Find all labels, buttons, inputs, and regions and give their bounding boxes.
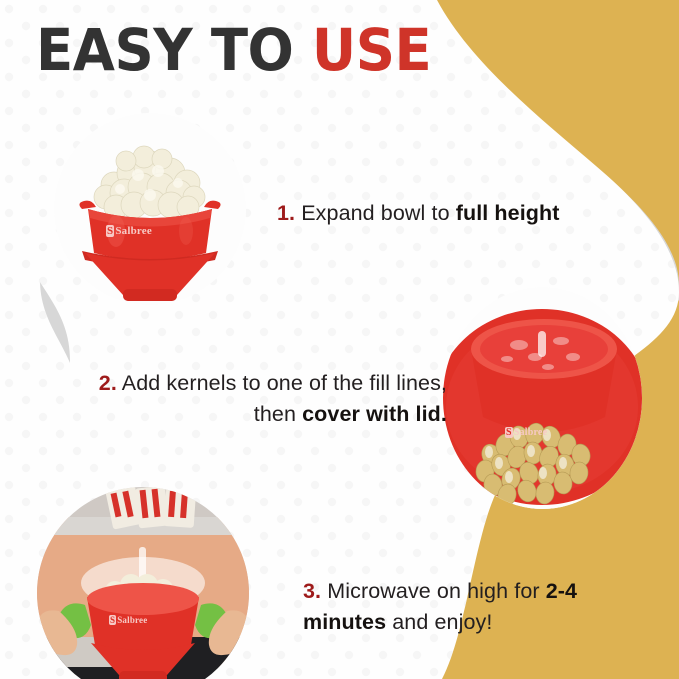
page-title: EASY TO USE [36,21,431,79]
brand-label: SSalbree [505,427,547,438]
step-1-body: Expand bowl to [301,201,456,225]
photo-kernels-and-lid: SSalbree [443,287,642,509]
kernels-and-lid-illustration [443,287,642,509]
brand-name: Salbree [117,615,147,625]
brand-mark-icon: S [106,225,114,237]
microwave-hands-illustration [37,487,249,679]
brand-mark-icon: S [109,615,116,625]
step-2-text: 2. Add kernels to one of the fill lines,… [55,368,447,429]
title-primary: EASY TO [36,16,293,84]
photo-expanded-bowl: SSalbree [54,113,246,305]
step-3-text: 3. Microwave on high for 2-4 minutes and… [303,576,663,637]
step-3-tail: and enjoy! [386,610,492,634]
brand-mark-icon: S [505,427,513,438]
brand-label: SSalbree [109,615,147,625]
step-1-number: 1. [277,201,295,225]
step-1-emphasis: full height [456,201,560,225]
title-accent: USE [312,16,431,84]
brand-name: Salbree [514,427,547,438]
step-1-text: 1. Expand bowl to full height [277,198,560,229]
brand-name: Salbree [115,225,152,237]
infographic-poster: EASY TO USE [0,0,679,679]
photo-microwave-hands: SSalbree [37,487,249,679]
brand-label: SSalbree [106,225,152,237]
step-2-number: 2. [99,371,117,395]
step-3-number: 3. [303,579,321,603]
step-2-emphasis: cover with lid. [302,402,447,426]
expanded-bowl-illustration [54,113,246,305]
step-3-body: Microwave on high for [327,579,546,603]
